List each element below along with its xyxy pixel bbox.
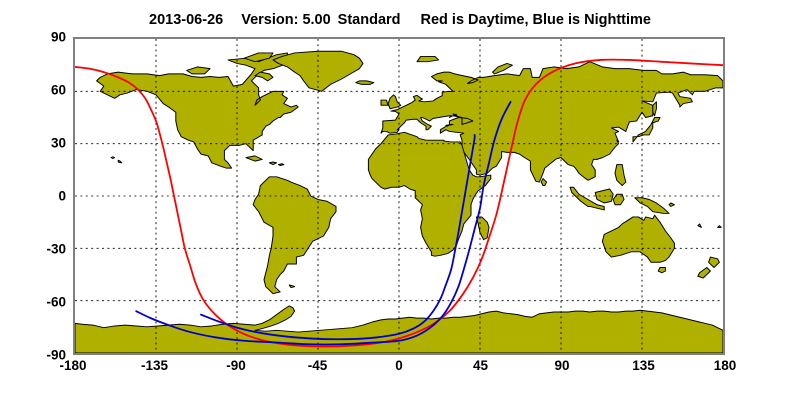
landmass	[602, 215, 674, 262]
landmass	[255, 72, 273, 81]
landmass	[278, 164, 283, 166]
ytick-label: -30	[20, 242, 66, 257]
landmass	[356, 81, 374, 84]
landmass	[718, 226, 722, 228]
landmass	[541, 179, 546, 186]
title-standard: Standard	[338, 12, 401, 28]
chart-title: 2013-06-26Version: 5.00StandardRed is Da…	[0, 12, 800, 28]
landmass	[381, 100, 388, 105]
plot-canvas: 2013-06-26Version: 5.00StandardRed is Da…	[0, 0, 800, 400]
ytick-label: 0	[20, 189, 66, 204]
ytick-label: -60	[20, 295, 66, 310]
landmass	[253, 177, 336, 294]
xtick-label: 45	[451, 358, 511, 373]
landmass	[698, 268, 711, 278]
landmass	[246, 156, 262, 161]
title-legend: Red is Daytime, Blue is Nighttime	[421, 12, 651, 28]
title-date: 2013-06-26	[149, 12, 223, 28]
xtick-label: -180	[43, 358, 103, 373]
landmass	[187, 67, 210, 74]
landmass	[653, 102, 657, 116]
landmass	[669, 203, 674, 206]
ytick-label: 30	[20, 136, 66, 151]
landmass	[111, 157, 115, 159]
landmass	[476, 217, 489, 240]
landmass	[698, 224, 702, 227]
map-plot-area	[73, 37, 725, 355]
landmass	[635, 198, 669, 214]
landmass	[269, 162, 276, 165]
xtick-label: -90	[206, 358, 266, 373]
landmass	[709, 257, 720, 267]
ytick-label: 90	[20, 30, 66, 45]
landmass	[615, 165, 626, 186]
xtick-label: 0	[369, 358, 429, 373]
xtick-label: -135	[125, 358, 185, 373]
landmass	[289, 285, 294, 288]
ytick-label: 60	[20, 83, 66, 98]
world-map-svg	[75, 39, 723, 353]
xtick-label: 90	[532, 358, 592, 373]
xtick-label: 135	[614, 358, 674, 373]
title-version: Version: 5.00	[241, 12, 330, 28]
xtick-label: 180	[695, 358, 755, 373]
landmass	[417, 56, 439, 61]
xtick-label: -45	[288, 358, 348, 373]
landmass	[118, 160, 122, 163]
map-layers	[75, 39, 723, 353]
landmass	[658, 268, 665, 273]
landmass	[493, 63, 513, 73]
